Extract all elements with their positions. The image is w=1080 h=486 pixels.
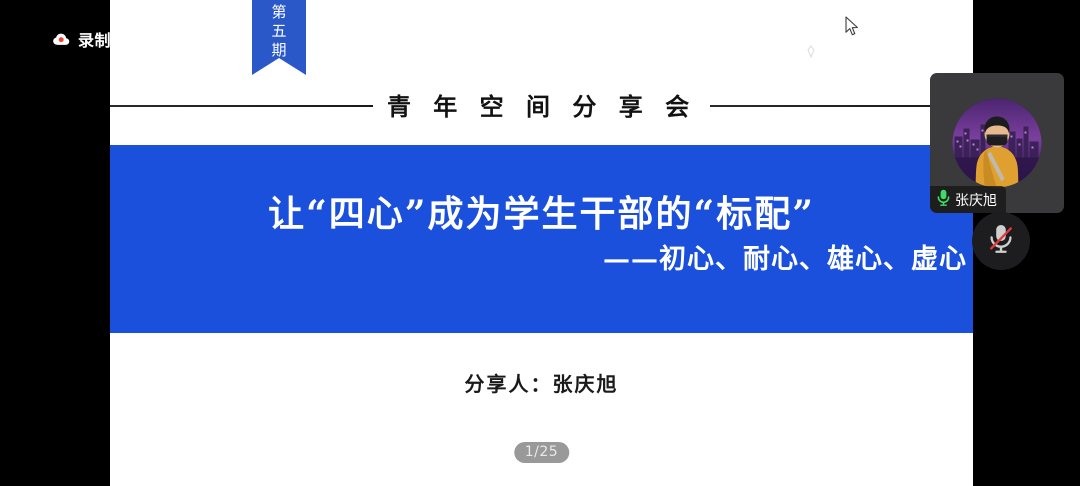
header-rule-left <box>110 105 373 107</box>
participant-name-chip: 张庆旭 <box>930 186 1006 213</box>
recording-badge: 录制中 <box>52 27 128 51</box>
meeting-screen: 第 五 期 青 年 空 间 分 享 会 让“四心”成为学生干部的“标配” ——初… <box>0 0 1080 486</box>
participant-video-tile[interactable]: 张庆旭 <box>930 73 1064 213</box>
title-blue-band: 让“四心”成为学生干部的“标配” ——初心、耐心、雄心、虚心 <box>110 145 973 333</box>
ribbon-char-1: 第 <box>271 3 286 22</box>
slide-sub-title: ——初心、耐心、雄心、虚心 <box>603 237 967 276</box>
recording-cloud-icon <box>52 30 71 49</box>
slide-main-title: 让“四心”成为学生干部的“标配” <box>110 185 973 237</box>
ribbon-char-2: 五 <box>271 22 286 41</box>
microphone-muted-icon <box>986 222 1016 261</box>
microphone-icon <box>937 189 950 211</box>
mute-microphone-button[interactable] <box>972 212 1030 270</box>
slide-header: 青 年 空 间 分 享 会 <box>110 86 973 126</box>
page-indicator: 1/25 <box>514 442 569 463</box>
slide-presenter: 分享人：张庆旭 <box>110 368 973 397</box>
issue-ribbon-banner: 第 五 期 <box>252 0 306 75</box>
recording-label: 录制中 <box>78 27 128 51</box>
stray-artifact-icon <box>806 45 816 64</box>
slide-header-title: 青 年 空 间 分 享 会 <box>387 87 696 126</box>
participant-name: 张庆旭 <box>955 190 997 210</box>
avatar <box>953 99 1042 188</box>
shared-slide: 第 五 期 青 年 空 间 分 享 会 让“四心”成为学生干部的“标配” ——初… <box>110 0 973 486</box>
mouse-pointer-icon <box>845 16 860 42</box>
ribbon-char-3: 期 <box>271 41 286 60</box>
